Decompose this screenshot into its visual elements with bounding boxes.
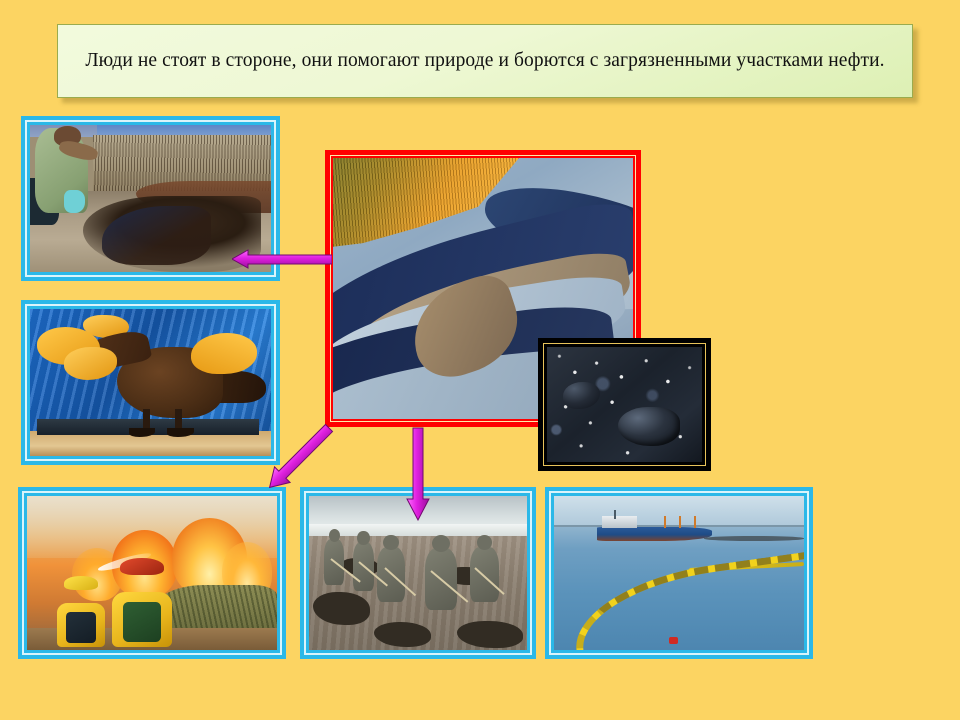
containment-boom-segments <box>567 550 804 650</box>
ship-hull <box>597 527 712 541</box>
firefighter-backpack <box>123 602 161 641</box>
oil-drop-primary <box>618 407 680 446</box>
ship-crane <box>694 516 696 528</box>
ship-mast <box>614 510 616 519</box>
oil-drop-secondary <box>563 382 600 410</box>
firefighter-helmet <box>64 576 98 590</box>
arrow-to-marsh-icon <box>232 246 332 272</box>
arrow-to-beach-icon <box>405 427 431 521</box>
slide-canvas: Люди не стоят в стороне, они помогают пр… <box>0 0 960 720</box>
arrow-to-fire-icon <box>255 412 345 502</box>
firefighter-backpack <box>66 612 96 643</box>
photo-ship-boom[interactable] <box>545 487 813 659</box>
bird-rescue-art <box>30 309 271 456</box>
photo-image-wildfire <box>27 496 277 650</box>
photo-frame-inner-line <box>543 343 706 466</box>
ship-crane <box>664 516 666 528</box>
firefighter-red-helmet <box>112 558 172 647</box>
photo-bird-rescue[interactable] <box>21 300 280 465</box>
boom-red-float <box>669 637 678 644</box>
page-title: Люди не стоят в стороне, они помогают пр… <box>85 48 884 74</box>
photo-frame-inner-line <box>25 304 276 461</box>
photo-frame-inner-line <box>549 491 809 655</box>
worker-glove <box>64 190 86 214</box>
glove-right <box>191 333 256 374</box>
title-text-box: Люди не стоят в стороне, они помогают пр… <box>57 24 913 98</box>
firefighter-yellow-helmet <box>57 576 105 647</box>
ship-crane <box>679 516 681 528</box>
photo-image-bird-rescue <box>30 309 271 456</box>
oil-droplets-art <box>547 347 702 462</box>
photo-oil-droplets[interactable] <box>538 338 711 471</box>
wildfire-art <box>27 496 277 650</box>
oil-slick-trail <box>704 536 804 541</box>
photo-frame-inner-line <box>22 491 282 655</box>
photo-image-oil-droplets <box>547 347 702 462</box>
photo-image-ship-boom <box>554 496 804 650</box>
photo-wildfire-firefighters[interactable] <box>18 487 286 659</box>
ship-superstructure <box>602 516 637 528</box>
firefighter-helmet <box>120 558 163 576</box>
ship-boom-art <box>554 496 804 650</box>
